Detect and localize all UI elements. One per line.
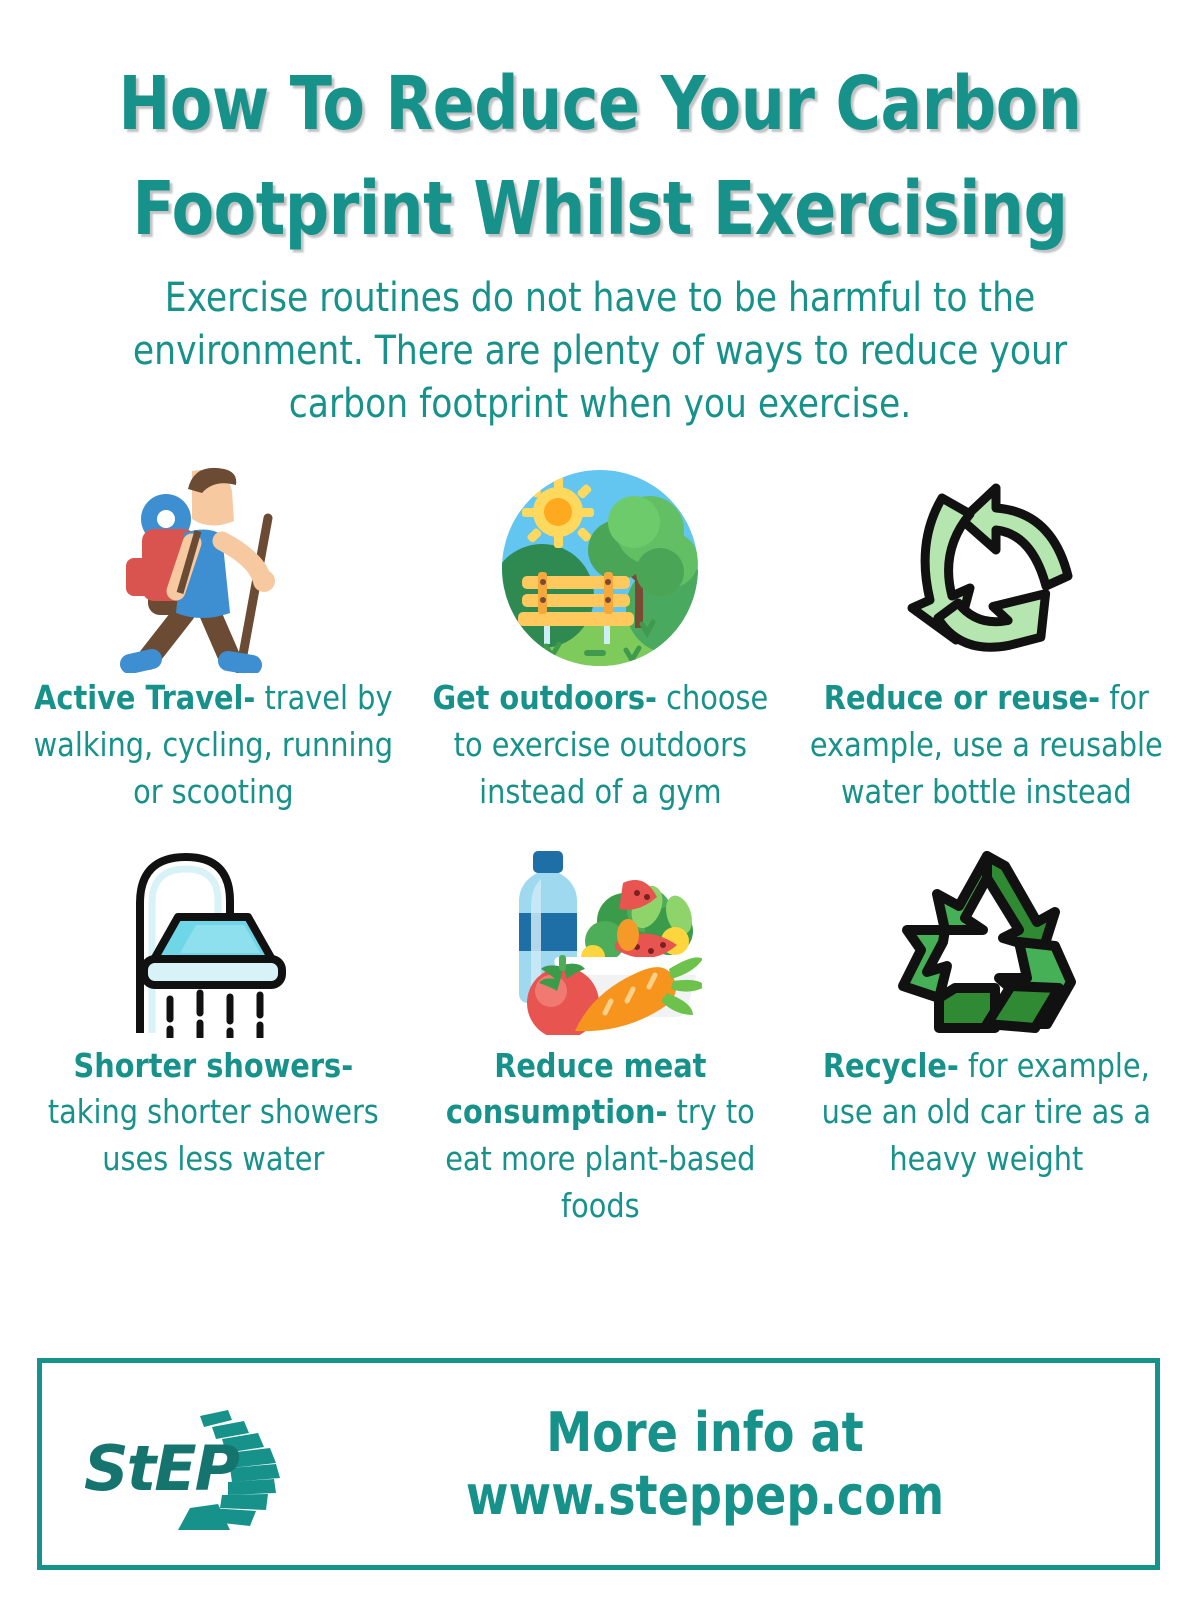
hiker-icon (98, 460, 328, 675)
page-subtitle: Exercise routines do not have to be harm… (110, 272, 1089, 430)
tip-text-recycle: Recycle- for example, use an old car tir… (799, 1043, 1174, 1184)
tip-body: taking shorter showers uses less water (48, 1092, 379, 1178)
tip-text-reduce-reuse: Reduce or reuse- for example, use a reus… (799, 675, 1174, 816)
footer-cta-text: More info at www.steppep.com (315, 1401, 1134, 1527)
tip-text-reduce-meat: Reduce meat consumption- try to eat more… (412, 1043, 787, 1230)
tip-text-get-outdoors: Get outdoors- choose to exercise outdoor… (412, 675, 787, 816)
tip-heading: Get outdoors- (432, 678, 657, 717)
tip-card-reduce-meat: Reduce meat consumption- try to eat more… (407, 828, 794, 1230)
shower-icon (98, 828, 328, 1043)
infographic-page: How To Reduce Your Carbon Footprint Whil… (0, 0, 1200, 1600)
reuse-arrows-icon (872, 460, 1102, 675)
tips-grid: Active Travel- travel by walking, cyclin… (20, 460, 1180, 1230)
tip-card-get-outdoors: Get outdoors- choose to exercise outdoor… (407, 460, 794, 816)
tip-text-active-travel: Active Travel- travel by walking, cyclin… (26, 675, 401, 816)
page-title: How To Reduce Your Carbon Footprint Whil… (98, 52, 1102, 262)
tip-card-recycle: Recycle- for example, use an old car tir… (793, 828, 1180, 1230)
tip-card-active-travel: Active Travel- travel by walking, cyclin… (20, 460, 407, 816)
tip-heading: Active Travel- (34, 678, 255, 717)
tip-heading: Shorter showers- (73, 1046, 353, 1085)
svg-text:StEP: StEP (84, 1432, 240, 1505)
footer-bar: StEP More info at www.steppep.com (37, 1358, 1160, 1570)
tip-text-shorter-showers: Shorter showers- taking shorter showers … (26, 1043, 401, 1184)
recycle-symbol-icon (872, 828, 1102, 1043)
vegetables-icon (485, 828, 715, 1043)
tip-heading: Reduce meat consumption- (446, 1046, 707, 1132)
tip-card-shorter-showers: Shorter showers- taking shorter showers … (20, 828, 407, 1230)
step-logo[interactable]: StEP (78, 1389, 293, 1539)
tip-heading: Recycle- (823, 1046, 959, 1085)
park-bench-icon (485, 460, 715, 675)
tip-card-reduce-reuse: Reduce or reuse- for example, use a reus… (793, 460, 1180, 816)
tip-heading: Reduce or reuse- (824, 678, 1100, 717)
